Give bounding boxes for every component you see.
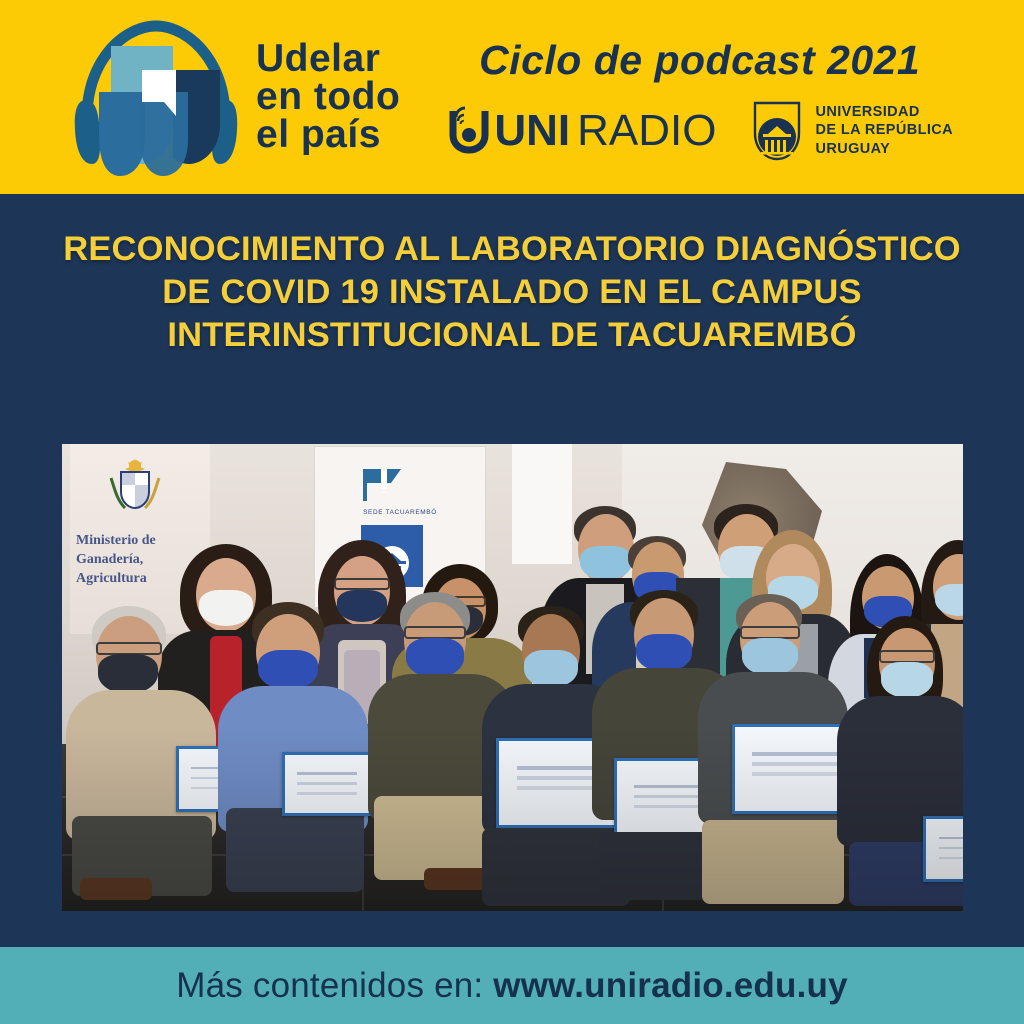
poster-headline: RECONOCIMIENTO AL LABORATORIO DIAGNÓSTIC… (0, 228, 1024, 356)
university-name: UNIVERSIDAD DE LA REPÚBLICA URUGUAY (815, 103, 953, 159)
diploma-certificate (923, 816, 963, 882)
photo-person (66, 606, 216, 896)
sede-flag-icon (351, 465, 421, 505)
udelar-university-logo: UNIVERSIDAD DE LA REPÚBLICA URUGUAY (752, 100, 953, 162)
wordmark-line-1: Udelar (256, 40, 400, 78)
footer-cta: Más contenidos en: www.uniradio.edu.uy (176, 966, 848, 1006)
group-photo: Ministerio de Ganadería, Agricultura SED… (62, 444, 963, 911)
wordmark-line-3: el país (256, 116, 400, 154)
footer-url[interactable]: www.uniradio.edu.uy (493, 966, 847, 1005)
uniradio-bold: UNI (494, 106, 570, 155)
university-line-1: UNIVERSIDAD (815, 103, 953, 122)
udelar-crest-icon (752, 100, 802, 162)
uniradio-wordmark: UNIRADIO (494, 109, 716, 153)
header-brand-right: Ciclo de podcast 2021 UNIRADIO (446, 33, 953, 162)
header-bar: Udelar en todo el país Ciclo de podcast … (0, 0, 1024, 194)
sede-banner-caption: SEDE TACUAREMBÓ (323, 509, 477, 516)
campaign-title: Ciclo de podcast 2021 (479, 37, 920, 84)
udelar-wordmark: Udelar en todo el país (256, 40, 400, 155)
poster-root: Udelar en todo el país Ciclo de podcast … (0, 0, 1024, 1024)
university-line-3: URUGUAY (815, 140, 953, 159)
photo-person (218, 602, 368, 892)
headphones-shield-icon (66, 14, 246, 180)
footer-prefix: Más contenidos en: (176, 966, 493, 1005)
wordmark-line-2: en todo (256, 78, 400, 116)
photo-person (837, 616, 963, 906)
header-brand-left: Udelar en todo el país (66, 14, 400, 180)
brand-logos-row: UNIRADIO (446, 100, 953, 162)
photo-person (698, 594, 848, 904)
uniradio-logo: UNIRADIO (446, 105, 716, 157)
footer-bar: Más contenidos en: www.uniradio.edu.uy (0, 947, 1024, 1024)
uniradio-broadcast-icon (446, 105, 492, 157)
uniradio-light: RADIO (577, 106, 716, 155)
uruguay-coat-of-arms-icon (105, 456, 165, 516)
university-line-2: DE LA REPÚBLICA (815, 121, 953, 140)
